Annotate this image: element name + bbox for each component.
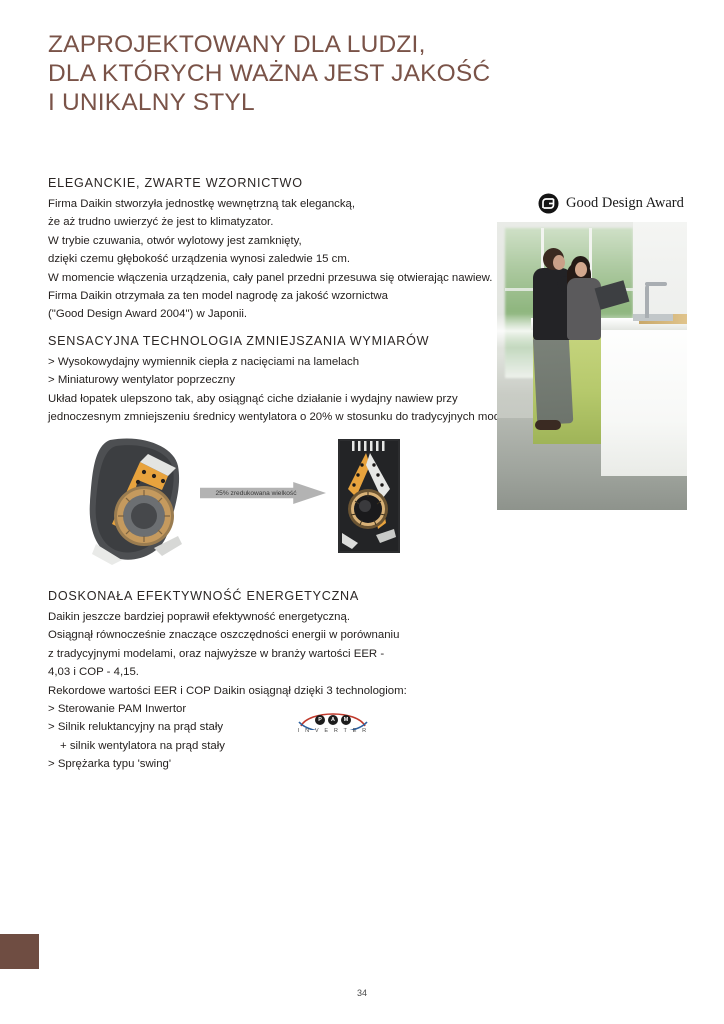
body-line: Daikin jeszcze bardziej poprawił efektyw… (48, 608, 478, 626)
page-title-line-1: ZAPROJEKTOWANY DLA LUDZI, (48, 30, 528, 59)
bullet-line: > Silnik reluktancyjny na prąd stały (48, 718, 478, 736)
pam-badge-m: M (341, 715, 351, 725)
body-line: Firma Daikin stworzyła jednostkę wewnętr… (48, 195, 518, 213)
pam-badge-a: A (328, 715, 338, 725)
bullet-line: > Wysokowydajny wymiennik ciepła z nacię… (48, 353, 518, 371)
body-line: 4,03 i COP - 4,15. (48, 663, 478, 681)
pam-badge-p: P (315, 715, 325, 725)
bullet-line: > Sterowanie PAM Inwertor (48, 700, 478, 718)
page-title: ZAPROJEKTOWANY DLA LUDZI, DLA KTÓRYCH WA… (48, 30, 528, 117)
good-design-award-label: Good Design Award (566, 195, 684, 212)
body-line: Układ łopatek ulepszono tak, aby osiągną… (48, 390, 518, 408)
page-title-line-3: I UNIKALNY STYL (48, 88, 528, 117)
body-line: dzięki czemu głębokość urządzenia wynosi… (48, 250, 518, 268)
good-design-award-icon (538, 193, 559, 214)
conventional-fan-image (82, 432, 190, 567)
document-page: ZAPROJEKTOWANY DLA LUDZI, DLA KTÓRYCH WA… (0, 0, 724, 1024)
page-number: 34 (0, 988, 724, 998)
inverter-wordmark: I N V E R T E R (297, 728, 369, 734)
section-elegant-design: ELEGANCKIE, ZWARTE WZORNICTWO Firma Daik… (48, 176, 518, 324)
bullet-line: > Miniaturowy wentylator poprzeczny (48, 371, 518, 389)
miniaturized-fan-image (336, 437, 402, 555)
size-reduction-arrow: 25% zredukowana wielkość (200, 482, 326, 504)
section-heading: DOSKONAŁA EFEKTYWNOŚĆ ENERGETYCZNA (48, 589, 478, 603)
body-line: W trybie czuwania, otwór wylotowy jest z… (48, 232, 518, 250)
section-heading: ELEGANCKIE, ZWARTE WZORNICTWO (48, 176, 518, 190)
good-design-award-logo: Good Design Award (538, 193, 684, 214)
section-size-reduction-technology: SENSACYJNA TECHNOLOGIA ZMNIEJSZANIA WYMI… (48, 334, 518, 427)
section-heading: SENSACYJNA TECHNOLOGIA ZMNIEJSZANIA WYMI… (48, 334, 518, 348)
body-line: jednoczesnym zmniejszeniu średnicy wenty… (48, 408, 518, 426)
bullet-subline: + silnik wentylatora na prąd stały (48, 737, 478, 755)
body-line: Firma Daikin otrzymała za ten model nagr… (48, 287, 518, 305)
section-energy-efficiency: DOSKONAŁA EFEKTYWNOŚĆ ENERGETYCZNA Daiki… (48, 589, 478, 774)
body-line: ("Good Design Award 2004") w Japonii. (48, 305, 518, 323)
kitchen-interior-photo (497, 222, 687, 510)
pam-inverter-logo: P A M I N V E R T E R (297, 710, 369, 738)
body-line: Rekordowe wartości EER i COP Daikin osią… (48, 682, 478, 700)
body-line: Osiągnął równocześnie znaczące oszczędno… (48, 626, 478, 644)
body-line: z tradycyjnymi modelami, oraz najwyższe … (48, 645, 478, 663)
corner-color-tab (0, 934, 39, 969)
bullet-line: > Sprężarka typu 'swing' (48, 755, 478, 773)
body-line: że aż trudno uwierzyć że jest to klimaty… (48, 213, 518, 231)
arrow-label: 25% zredukowana wielkość (212, 482, 300, 504)
page-title-line-2: DLA KTÓRYCH WAŻNA JEST JAKOŚĆ (48, 59, 528, 88)
body-line: W momencie włączenia urządzenia, cały pa… (48, 269, 518, 287)
